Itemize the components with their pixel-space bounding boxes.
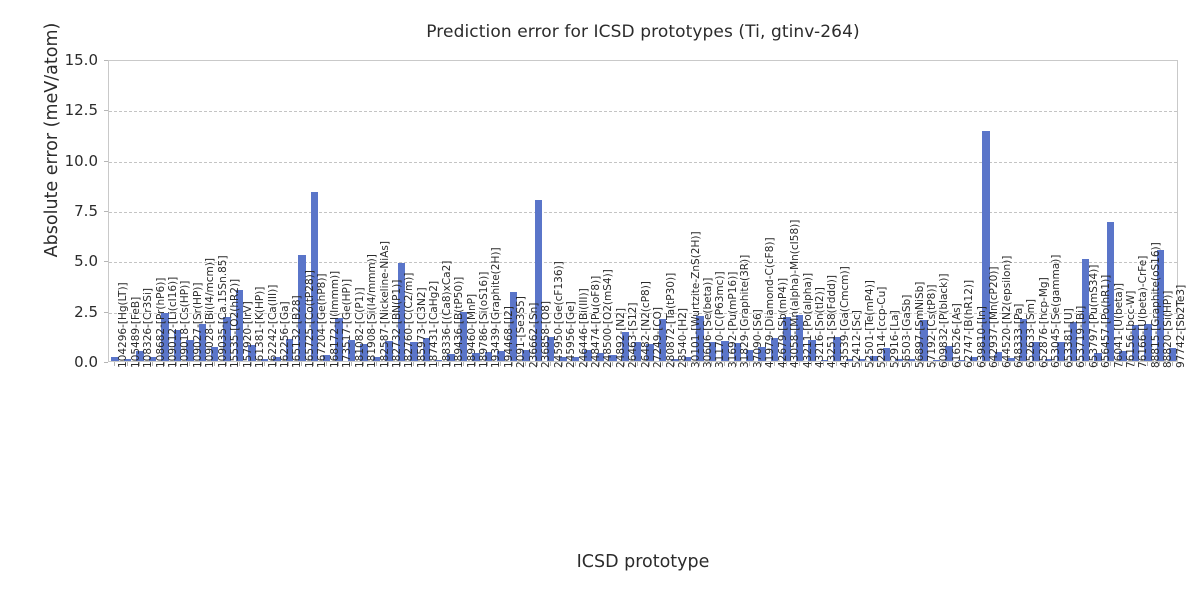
x-tick-label: 31692-[Pu(mP16)]	[728, 272, 739, 368]
x-tick-label: 109012-[Li(cI16)]	[168, 277, 179, 368]
x-tick-mark	[1122, 362, 1123, 366]
x-tick-label: 43211-[Po(alpha)]	[803, 273, 814, 368]
x-tick-mark	[898, 362, 899, 366]
x-tick-mark	[1010, 362, 1011, 366]
y-tick-label: 15.0	[42, 51, 98, 69]
x-tick-label: 104296-[Hg(LT)]	[118, 282, 129, 368]
x-tick-mark	[1159, 362, 1160, 366]
x-tick-label: 43058-[Mn(alpha)-Mn(cI58)]	[790, 220, 801, 368]
x-tick-mark	[463, 362, 464, 366]
y-tick-mark	[104, 211, 108, 212]
x-tick-mark	[960, 362, 961, 366]
x-tick-label: 24892-[N2]	[616, 308, 627, 368]
x-tick-label: 189436-[B(tP50)]	[454, 277, 465, 368]
x-tick-label: 188336-[(Ca8)xCa2]	[442, 261, 453, 368]
x-tick-label: 42679-[Sb(mP4)]	[778, 278, 789, 368]
x-tick-label: 193439-[Graphite(2H)]	[491, 247, 502, 368]
x-tick-mark	[214, 362, 215, 366]
x-tick-mark	[711, 362, 712, 366]
x-tick-mark	[935, 362, 936, 366]
x-tick-label: 56503-[GaSb]	[902, 295, 913, 368]
x-tick-label: 245956-[Ge]	[566, 301, 577, 368]
x-tick-label: 652876-[hcp-Mg]	[1039, 277, 1050, 368]
x-tick-label: 76156-[bcc-W]	[1126, 291, 1137, 368]
x-tick-mark	[1172, 362, 1173, 366]
x-tick-mark	[786, 362, 787, 366]
x-tick-mark	[674, 362, 675, 366]
x-tick-label: 245950-[Ge(cF136)]	[554, 261, 565, 368]
x-tick-mark	[774, 362, 775, 366]
x-tick-mark	[612, 362, 613, 366]
x-tick-mark	[637, 362, 638, 366]
x-tick-label: 52501-[Te(mP4)]	[865, 280, 876, 368]
x-tick-label: 173517-[Ge(HP)]	[342, 279, 353, 368]
x-tick-label: 2091-[Se3S5]	[516, 296, 527, 368]
x-tick-mark	[848, 362, 849, 366]
x-tick-mark	[599, 362, 600, 366]
x-tick-label: 280872-[Ta(tP30)]	[666, 273, 677, 368]
x-tick-mark	[1022, 362, 1023, 366]
x-tick-label: 168172-[I(Immm)]	[330, 271, 341, 368]
x-tick-label: 194468-[I2]	[504, 306, 515, 368]
x-tick-label: 76041-[U(beta)]	[1114, 283, 1125, 368]
x-tick-label: 52412-[Sc]	[852, 310, 863, 368]
x-tick-mark	[376, 362, 377, 366]
x-tick-mark	[1035, 362, 1036, 366]
x-tick-mark	[575, 362, 576, 366]
x-tick-label: 43251-[S8(Fddd)]	[827, 275, 838, 368]
y-tick-mark	[104, 60, 108, 61]
x-tick-mark	[886, 362, 887, 366]
x-tick-mark	[388, 362, 389, 366]
x-axis-ticks: 104296-[Hg(LT)]105489-[FeB]108326-[Cr3Si…	[108, 362, 1178, 552]
x-tick-label: 165132-[B28]	[292, 295, 303, 368]
x-tick-mark	[189, 362, 190, 366]
y-tick-label: 0.0	[42, 353, 98, 371]
x-tick-label: 56897-[SmNiSb]	[915, 282, 926, 368]
x-tick-mark	[276, 362, 277, 366]
x-tick-mark	[973, 362, 974, 366]
x-tick-label: 236662-[Sn]	[529, 303, 540, 368]
x-tick-mark	[264, 362, 265, 366]
x-tick-mark	[1060, 362, 1061, 366]
x-tick-mark	[811, 362, 812, 366]
x-tick-mark	[487, 362, 488, 366]
x-tick-mark	[400, 362, 401, 366]
x-tick-label: 162256-[Ga]	[280, 301, 291, 368]
x-axis-label: ICSD prototype	[108, 552, 1178, 572]
x-tick-mark	[512, 362, 513, 366]
x-tick-label: 616526-[As]	[952, 303, 963, 368]
x-tick-label: 43216-[Sn(tI2)]	[815, 287, 826, 368]
x-tick-mark	[985, 362, 986, 366]
x-tick-mark	[1085, 362, 1086, 366]
x-tick-mark	[861, 362, 862, 366]
x-tick-mark	[450, 362, 451, 366]
x-tick-label: 157920-[IrV]	[243, 301, 254, 368]
y-tick-mark	[104, 110, 108, 111]
x-tick-mark	[998, 362, 999, 366]
x-tick-mark	[152, 362, 153, 366]
x-tick-label: 248500-[O2(mS4)]	[603, 269, 614, 368]
x-tick-mark	[475, 362, 476, 366]
x-tick-label: 182760-[C(C2/m)]	[404, 273, 415, 368]
x-tick-mark	[1134, 362, 1135, 366]
x-tick-mark	[413, 362, 414, 366]
x-tick-label: 109027-[Sr(HP)]	[193, 283, 204, 368]
x-tick-mark	[351, 362, 352, 366]
chart-figure: Prediction error for ICSD prototypes (Ti…	[0, 0, 1200, 600]
x-tick-label: 182732-[BN(P1)]	[392, 280, 403, 368]
x-tick-label: 27249-[CO]	[653, 307, 664, 368]
x-tick-label: 97742-[Sb2Te3]	[1176, 285, 1187, 368]
x-tick-mark	[649, 362, 650, 366]
y-tick-mark	[104, 312, 108, 313]
x-tick-mark	[1097, 362, 1098, 366]
x-tick-mark	[799, 362, 800, 366]
x-tick-label: 108326-[Cr3Si]	[143, 288, 154, 368]
x-tick-mark	[537, 362, 538, 366]
x-tick-label: 161381-[K(HP)]	[255, 287, 266, 368]
chart-title: Prediction error for ICSD prototypes (Ti…	[108, 22, 1178, 42]
x-tick-label: 108682-[Pr(hP6)]	[156, 278, 167, 368]
x-tick-mark	[550, 362, 551, 366]
x-tick-label: 656457-[Po(hR1)]	[1101, 275, 1112, 368]
x-tick-label: 28540-[H2]	[678, 308, 689, 368]
x-tick-mark	[176, 362, 177, 366]
x-tick-label: 653797-[Pu(mS34)]	[1089, 265, 1100, 368]
x-tick-mark	[326, 362, 327, 366]
x-tick-mark	[562, 362, 563, 366]
x-tick-label: 52914-[ccp-Cu]	[877, 287, 888, 368]
x-tick-mark	[1110, 362, 1111, 366]
x-tick-label: 109035-[Ca.15Sn.85]	[218, 255, 229, 368]
x-tick-label: 653045-[Se(gamma)]	[1051, 255, 1062, 368]
x-tick-mark	[736, 362, 737, 366]
x-tick-label: 52916-[La]	[890, 310, 901, 368]
x-tick-mark	[699, 362, 700, 366]
x-tick-mark	[724, 362, 725, 366]
x-tick-label: 653719-[Bi]	[1076, 306, 1087, 368]
x-tick-label: 165725-[Co(tP28)]	[305, 270, 316, 368]
x-tick-label: 236858-[O8]	[541, 301, 552, 368]
x-tick-mark	[363, 362, 364, 366]
y-tick-label: 12.5	[42, 101, 98, 119]
x-tick-mark	[587, 362, 588, 366]
x-tick-label: 162242-[Ca(III)]	[268, 285, 279, 368]
x-tick-mark	[836, 362, 837, 366]
x-tick-label: 639810-[In]	[977, 306, 988, 368]
x-tick-label: 37090-[S6]	[753, 309, 764, 368]
x-tick-label: 181908-[Si(I4/mmm)]	[367, 254, 378, 368]
x-tick-label: 31829-[Graphite(3R)]	[740, 255, 751, 368]
x-tick-label: 109018-[Cs(HP)]	[180, 281, 191, 368]
x-tick-mark	[164, 362, 165, 366]
x-tick-mark	[139, 362, 140, 366]
x-tick-mark	[127, 362, 128, 366]
x-tick-label: 62747-[B(hR12)]	[964, 280, 975, 368]
x-tick-label: 653381-[U]	[1064, 308, 1075, 368]
y-tick-label: 7.5	[42, 202, 98, 220]
x-tick-mark	[1072, 362, 1073, 366]
x-tick-label: 182587-[Nickeline-NiAs]	[380, 241, 391, 368]
x-tick-label: 652633-[Sm]	[1026, 299, 1037, 368]
x-tick-mark	[624, 362, 625, 366]
x-tick-mark	[687, 362, 688, 366]
y-tick-mark	[104, 261, 108, 262]
x-tick-label: 644520-[N2(epsilon)]	[1002, 256, 1013, 368]
x-tick-label: 15535-[O2(hR2)]	[230, 279, 241, 368]
x-tick-mark	[948, 362, 949, 366]
x-tick-label: 30101-[Wurtzite-ZnS(2H)]	[691, 231, 702, 368]
x-tick-label: 648333-[Pa]	[1014, 304, 1025, 368]
x-tick-mark	[500, 362, 501, 366]
x-tick-label: 609832-[P(black)]	[939, 274, 950, 368]
x-tick-label: 105489-[FeB]	[131, 297, 142, 368]
x-tick-label: 88815-[Graphite(oS16)]	[1151, 242, 1162, 368]
x-tick-label: 187431-[CaHg2]	[429, 281, 440, 368]
x-tick-label: 76166-[U(beta)-CrFe]	[1138, 256, 1149, 368]
x-tick-mark	[1047, 362, 1048, 366]
x-tick-label: 30606-[Se(beta)]	[703, 278, 714, 368]
x-tick-label: 181082-[C(P1)]	[355, 287, 366, 368]
x-tick-mark	[911, 362, 912, 366]
x-tick-label: 189786-[Si(oS16)]	[479, 272, 490, 368]
x-tick-label: 41979-[Diamond-C(cF8)]	[765, 237, 776, 368]
x-tick-label: 248474-[Pu(oF8)]	[591, 276, 602, 368]
x-tick-mark	[438, 362, 439, 366]
x-tick-mark	[425, 362, 426, 366]
x-tick-mark	[114, 362, 115, 366]
x-tick-mark	[251, 362, 252, 366]
x-tick-label: 88820-[Si(HP)]	[1163, 291, 1174, 368]
y-tick-label: 5.0	[42, 252, 98, 270]
x-tick-mark	[525, 362, 526, 366]
x-tick-mark	[338, 362, 339, 366]
y-tick-mark	[104, 161, 108, 162]
x-tick-label: 43539-[Ga(Cmcm)]	[840, 266, 851, 368]
x-tick-mark	[662, 362, 663, 366]
x-tick-mark	[226, 362, 227, 366]
x-tick-mark	[873, 362, 874, 366]
x-tick-label: 185973-[C3N2]	[417, 287, 428, 368]
x-tick-mark	[761, 362, 762, 366]
x-tick-label: 246446-[Bi(III)]	[579, 288, 590, 368]
x-tick-label: 642937-[Mn(cP20)]	[989, 267, 1000, 368]
x-tick-label: 167204-[Ge(hP8)]	[317, 273, 328, 368]
x-tick-mark	[313, 362, 314, 366]
x-tick-mark	[239, 362, 240, 366]
x-tick-mark	[823, 362, 824, 366]
x-tick-label: 109028-[Bi(I4/mcm)]	[205, 258, 216, 368]
x-tick-label: 189460-[MnP]	[467, 294, 478, 368]
x-tick-mark	[1147, 362, 1148, 366]
x-tick-label: 31170-[C(P63mc)]	[715, 271, 726, 368]
x-tick-mark	[923, 362, 924, 366]
y-tick-label: 2.5	[42, 303, 98, 321]
x-tick-label: 26463-[S12]	[628, 303, 639, 368]
x-tick-label: 57192-[Cs(tP8)]	[927, 284, 938, 368]
x-tick-mark	[288, 362, 289, 366]
x-tick-mark	[301, 362, 302, 366]
x-tick-label: 26482-[N2(cP8)]	[641, 281, 652, 368]
x-tick-mark	[201, 362, 202, 366]
x-tick-mark	[749, 362, 750, 366]
y-tick-label: 10.0	[42, 152, 98, 170]
